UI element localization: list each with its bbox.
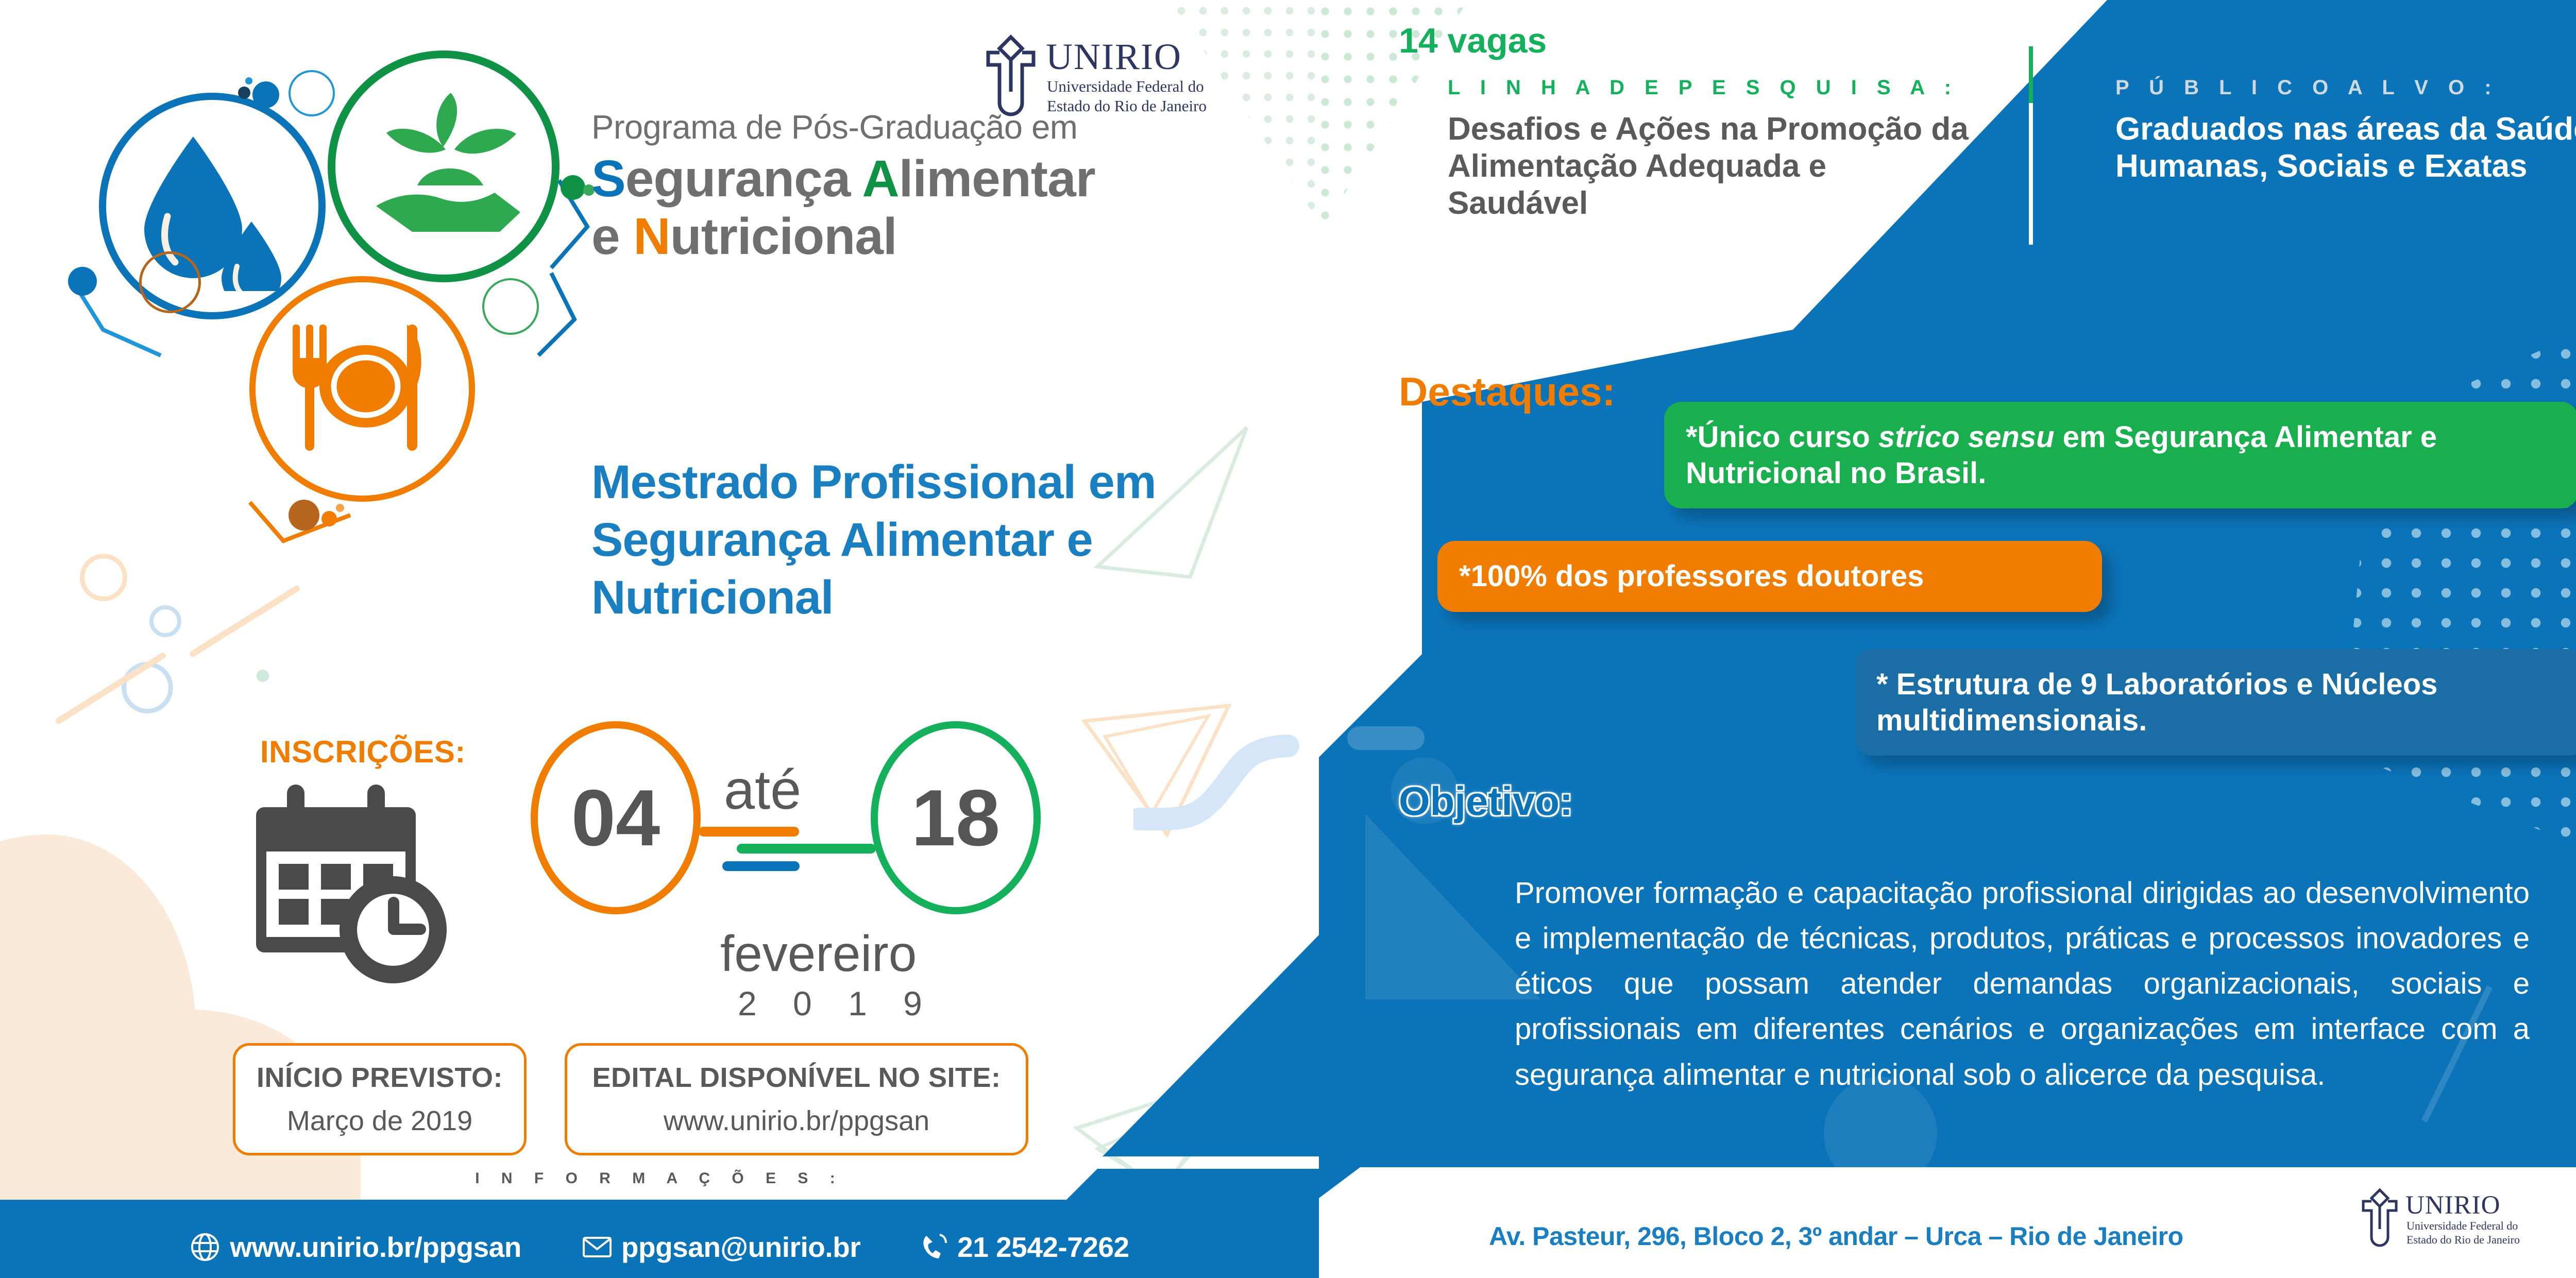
- unirio-footer-sub1: Universidade Federal do: [2406, 1219, 2518, 1232]
- column-divider-green-top: [2029, 46, 2033, 103]
- degree-title: Mestrado Profissional em Segurança Alime…: [591, 453, 1241, 627]
- contact-website-text: www.unirio.br/ppgsan: [230, 1231, 521, 1264]
- svg-text:UNIRIO: UNIRIO: [1046, 36, 1182, 77]
- poster-root: UNIRIO Universidade Federal do Estado do…: [0, 0, 2576, 1278]
- decor-pill-overlay: [1347, 726, 1425, 750]
- decor-dot-blue-left: [68, 267, 97, 296]
- decor-ring-blue: [289, 70, 335, 116]
- contact-email-text: ppgsan@unirio.br: [621, 1231, 860, 1264]
- decor-circle-blue: [122, 662, 173, 713]
- highlight-green-pre: *Único curso: [1686, 420, 1878, 454]
- decor-dot-brown: [289, 500, 319, 531]
- contact-row: www.unirio.br/ppgsan ppgsan@unirio.br 21…: [0, 1231, 1319, 1264]
- program-title: Segurança Alimentar e Nutricional: [591, 150, 1241, 265]
- unirio-logo-footer: UNIRIO Universidade Federal do Estado do…: [2357, 1186, 2527, 1255]
- edital-title: EDITAL DISPONÍVEL NO SITE:: [592, 1062, 1001, 1094]
- decor-diagonal-line-2: [189, 585, 301, 658]
- date-month: fevereiro: [720, 925, 917, 983]
- start-date-title: INÍCIO PREVISTO:: [257, 1062, 503, 1094]
- audience-text: Graduados nas áreas da Saúde, Humanas, S…: [2115, 111, 2576, 185]
- unirio-sub1: Universidade Federal do: [1047, 77, 1204, 95]
- program-line: Programa de Pós-Graduação em: [591, 108, 1241, 147]
- decor-dot-lightblue: [245, 77, 252, 84]
- start-date-value: Março de 2019: [287, 1105, 472, 1137]
- left-panel: UNIRIO Universidade Federal do Estado do…: [0, 0, 1319, 1278]
- decor-squiggle: [1133, 721, 1303, 840]
- highlight-green-emphasis: strico sensu: [1878, 420, 2055, 454]
- decor-circle-peach: [80, 554, 127, 601]
- date-bar-orange: [699, 827, 799, 837]
- date-connector: até: [724, 757, 801, 822]
- calendar-clock-icon: [255, 775, 477, 992]
- highlight-box-navy: * Estrutura de 9 Laboratórios e Núcleos …: [1855, 649, 2576, 756]
- title-nutricional-rest: utricional: [670, 208, 897, 265]
- svg-text:UNIRIO: UNIRIO: [2405, 1191, 2500, 1220]
- title-e: e: [591, 208, 633, 265]
- globe-icon: [190, 1232, 221, 1263]
- decor-dot-blue-lg: [252, 81, 279, 108]
- edital-box[interactable]: EDITAL DISPONÍVEL NO SITE: www.unirio.br…: [565, 1043, 1028, 1155]
- title-seguranca-rest: egurança: [625, 150, 862, 208]
- vacancies-count: 14 vagas: [1399, 21, 1547, 61]
- date-end-oval: 18: [871, 721, 1041, 914]
- decor-ring-brown: [139, 251, 201, 313]
- decor-dot-orange: [321, 511, 337, 526]
- date-range-block: 04 até 18 fevereiro 2 0 1 9: [531, 721, 1108, 1010]
- plate-cutlery-icon: [283, 309, 448, 469]
- title-alimentar-rest: limentar: [899, 150, 1095, 208]
- program-title-block: Programa de Pós-Graduação em Segurança A…: [591, 108, 1241, 265]
- mail-icon: [582, 1235, 612, 1259]
- start-date-box: INÍCIO PREVISTO: Março de 2019: [233, 1043, 527, 1155]
- highlight-box-orange: *100% dos professores doutores: [1437, 541, 2102, 612]
- decor-ring-green: [482, 278, 539, 335]
- date-bar-blue: [722, 861, 800, 871]
- hand-plant-icon: [366, 77, 536, 242]
- decor-dot-orange-sm: [336, 504, 344, 512]
- decor-dot-green: [257, 670, 269, 682]
- audience-label: P Ú B L I C O A L V O :: [2115, 76, 2499, 99]
- address-text: Av. Pasteur, 296, Bloco 2, 3º andar – Ur…: [1489, 1221, 2183, 1251]
- title-s-initial: S: [591, 150, 625, 208]
- contact-phone[interactable]: 21 2542-7262: [921, 1231, 1129, 1264]
- decor-dot-green-lg: [561, 175, 585, 200]
- objective-label: Objetivo:: [1399, 778, 1573, 825]
- edital-url[interactable]: www.unirio.br/ppgsan: [664, 1105, 929, 1137]
- decor-dot-navy: [238, 87, 250, 99]
- title-n-initial: N: [633, 208, 670, 265]
- objective-text: Promover formação e capacitação profissi…: [1515, 871, 2530, 1098]
- research-line-label: L I N H A D E P E S Q U I S A :: [1448, 76, 1958, 99]
- inscriptions-label: INSCRIÇÕES:: [260, 734, 466, 770]
- date-year: 2 0 1 9: [738, 984, 936, 1023]
- decor-circle-blue-small: [149, 605, 181, 637]
- right-panel: 14 vagas L I N H A D E P E S Q U I S A :…: [1319, 0, 2576, 1278]
- research-line-text: Desafios e Ações na Promoção da Alimenta…: [1448, 111, 1973, 222]
- icon-cluster: [41, 21, 598, 546]
- title-a-initial: A: [862, 150, 899, 208]
- contact-phone-text: 21 2542-7262: [957, 1231, 1129, 1264]
- contact-email[interactable]: ppgsan@unirio.br: [582, 1231, 860, 1264]
- highlights-label: Destaques:: [1399, 368, 1615, 415]
- contact-website[interactable]: www.unirio.br/ppgsan: [190, 1231, 521, 1264]
- date-bar-green: [737, 844, 876, 854]
- phone-icon: [921, 1233, 948, 1262]
- unirio-footer-sub2: Estado do Rio de Janeiro: [2406, 1233, 2520, 1246]
- highlight-box-green: *Único curso strico sensu em Segurança A…: [1664, 402, 2576, 508]
- date-start-oval: 04: [531, 721, 701, 914]
